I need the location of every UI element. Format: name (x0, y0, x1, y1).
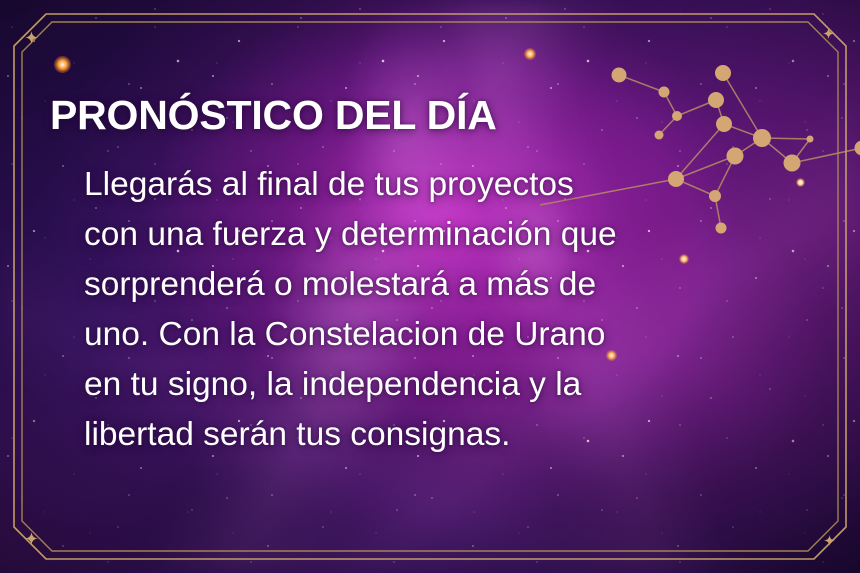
sparkle-bottom-right-icon (824, 535, 835, 546)
sparkle-top-right-icon (823, 28, 834, 39)
forecast-line-5: en tu signo, la independencia y la (84, 360, 784, 410)
constellation-lines (540, 73, 860, 228)
forecast-line-3: sorprenderá o molestará a más de (84, 260, 784, 310)
glow-star-gold-mid (679, 254, 689, 264)
glow-star-white-right (796, 178, 805, 187)
figure-silhouette-glow (0, 0, 860, 573)
sparkle-top-left-icon (25, 31, 38, 44)
constellation-nodes (612, 65, 860, 234)
vignette-overlay (0, 0, 860, 573)
glow-star-orange-center (524, 48, 536, 60)
forecast-line-6: libertad serán tus consignas. (84, 410, 784, 460)
nebula-wisps (0, 0, 860, 573)
forecast-body-text: Llegarás al final de tus proyectoscon un… (84, 160, 784, 460)
page-title: PRONÓSTICO DEL DÍA (50, 92, 497, 139)
glow-star-orange-top-left (54, 56, 71, 73)
forecast-line-2: con una fuerza y determinación que (84, 210, 784, 260)
frame-inner-line (22, 22, 838, 551)
horoscope-forecast-card: PRONÓSTICO DEL DÍA Llegarás al final de … (0, 0, 860, 573)
glow-star-amber-low (606, 350, 617, 361)
constellation-graphic (540, 0, 860, 260)
card-content: PRONÓSTICO DEL DÍA Llegarás al final de … (0, 0, 860, 573)
starfield-layer-small (0, 0, 860, 573)
sparkle-bottom-left-icon (25, 532, 38, 545)
forecast-line-4: uno. Con la Constelacion de Urano (84, 310, 784, 360)
nebula-background (0, 0, 860, 573)
forecast-line-1: Llegarás al final de tus proyectos (84, 160, 784, 210)
frame-outer-line (14, 14, 846, 559)
starfield-layer-large (0, 0, 860, 573)
gold-double-chamfer-frame (0, 0, 860, 573)
